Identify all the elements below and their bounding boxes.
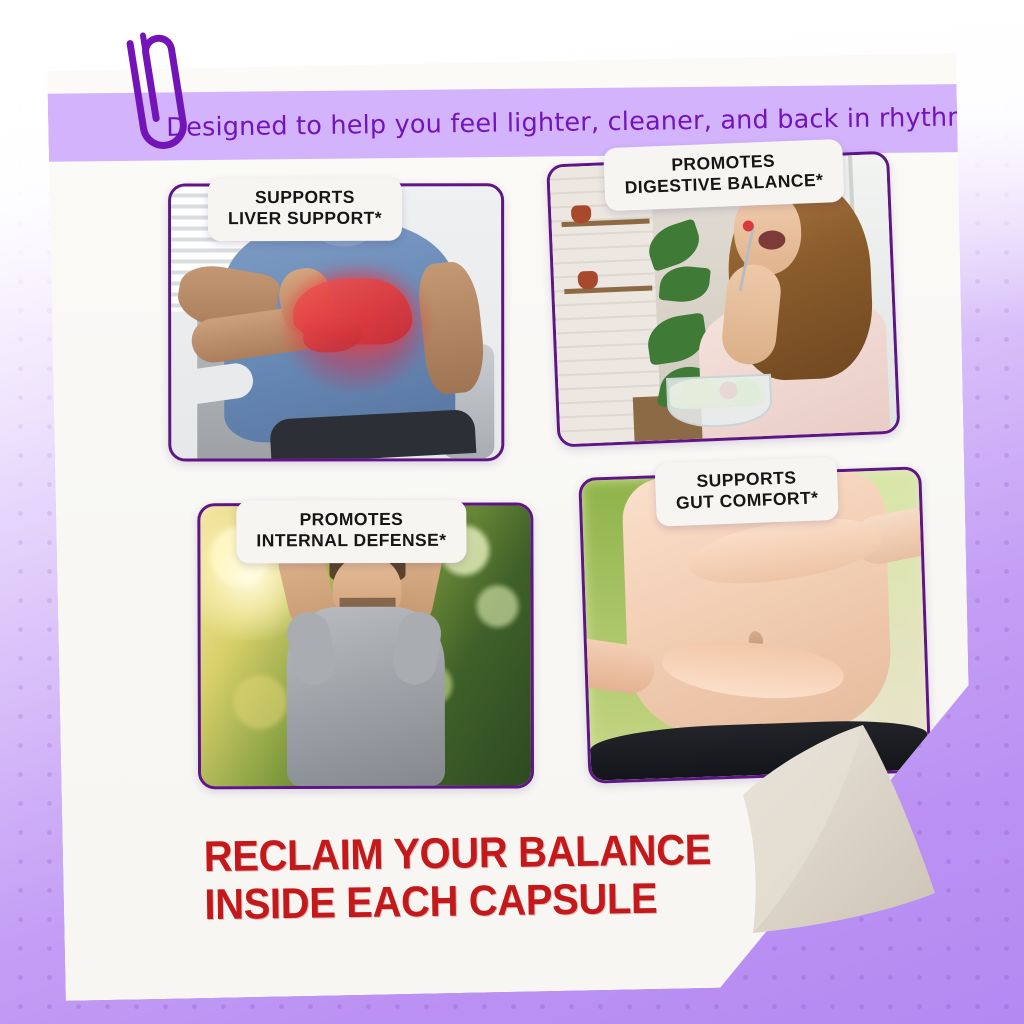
poster-canvas: Designed to help you feel lighter, clean… [0,0,1024,1024]
label-internal-defense: PROMOTES INTERNAL DEFENSE* [236,500,466,563]
label-digestive-balance: PROMOTES DIGESTIVE BALANCE* [603,139,844,211]
label-liver-support-line2: LIVER SUPPORT* [228,208,382,230]
label-liver-support: SUPPORTS LIVER SUPPORT* [208,178,402,241]
label-internal-defense-line2: INTERNAL DEFENSE* [256,530,446,552]
banner-text: Designed to help you feel lighter, clean… [166,91,975,154]
label-gut-comfort-line2: GUT COMFORT* [676,488,819,515]
label-liver-support-line1: SUPPORTS [228,187,382,209]
label-internal-defense-line1: PROMOTES [256,509,446,531]
paperclip-icon [112,22,202,162]
headline: RECLAIM YOUR BALANCE INSIDE EACH CAPSULE [203,824,855,929]
headline-line2: INSIDE EACH CAPSULE [204,872,856,929]
label-gut-comfort: SUPPORTS GUT COMFORT* [655,457,840,526]
